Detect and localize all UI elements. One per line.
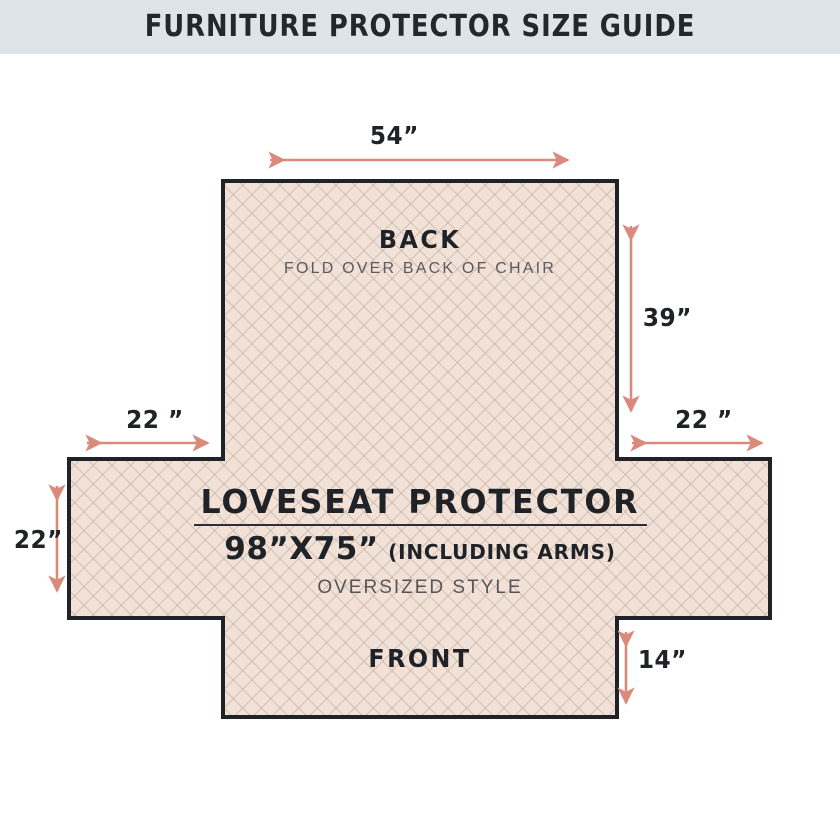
dimension-label-back-width: 54” bbox=[370, 121, 419, 150]
size-guide-page: FURNITURE PROTECTOR SIZE GUIDE bbox=[0, 0, 840, 840]
back-panel-subtitle: FOLD OVER BACK OF CHAIR bbox=[0, 260, 840, 278]
header-bar: FURNITURE PROTECTOR SIZE GUIDE bbox=[0, 0, 840, 54]
size-line: 98”X75” (INCLUDING ARMS) bbox=[120, 532, 720, 572]
dimension-label-back-height: 39” bbox=[643, 303, 692, 332]
dimension-label-right-arm-width: 22 ” bbox=[675, 405, 733, 434]
dimension-label-left-arm-height: 22” bbox=[14, 525, 63, 554]
protector-diagram bbox=[0, 54, 840, 840]
back-panel-title: BACK bbox=[21, 225, 819, 254]
title-divider bbox=[194, 524, 647, 526]
dimension-label-left-arm-width: 22 ” bbox=[126, 405, 184, 434]
product-title: LOVESEAT PROTECTOR bbox=[132, 484, 708, 520]
front-panel-title: FRONT bbox=[21, 644, 819, 673]
center-panel-text: LOVESEAT PROTECTOR 98”X75” (INCLUDING AR… bbox=[120, 484, 720, 599]
style-label: OVERSIZED STYLE bbox=[120, 577, 720, 599]
size-note: (INCLUDING ARMS) bbox=[388, 540, 616, 564]
size-value: 98”X75” bbox=[224, 531, 378, 567]
page-title: FURNITURE PROTECTOR SIZE GUIDE bbox=[59, 0, 781, 54]
